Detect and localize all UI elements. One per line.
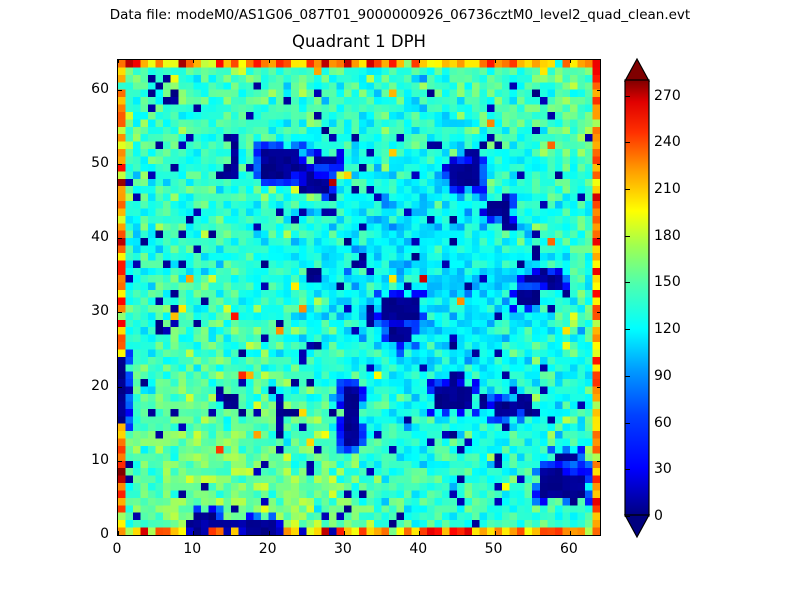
- colorbar-tick-mark: [625, 282, 630, 283]
- y-ticklabel: 30: [63, 303, 109, 319]
- colorbar-ticklabel: 30: [654, 461, 672, 477]
- y-tick-mark-right: [597, 238, 601, 239]
- x-tick-mark-top: [495, 59, 496, 63]
- y-tick-mark-right: [597, 90, 601, 91]
- colorbar-body: [625, 80, 649, 516]
- y-tick-mark: [117, 164, 122, 165]
- y-ticklabel: 60: [63, 81, 109, 97]
- colorbar-extend-top-arrow: [625, 59, 649, 81]
- colorbar-tick-mark: [625, 516, 630, 517]
- colorbar-ticklabel: 90: [654, 368, 672, 384]
- data-file-suptitle: Data file: modeM0/AS1G06_087T01_90000009…: [0, 6, 800, 24]
- colorbar-tick-mark: [625, 376, 630, 377]
- y-tick-mark-right: [597, 164, 601, 165]
- colorbar-tick-mark: [625, 329, 630, 330]
- x-ticklabel: 50: [469, 541, 519, 557]
- x-tick-mark-top: [118, 59, 119, 63]
- y-ticklabel: 20: [63, 378, 109, 394]
- x-tick-mark-top: [570, 59, 571, 63]
- x-ticklabel: 40: [393, 541, 443, 557]
- y-tick-mark: [117, 90, 122, 91]
- y-tick-mark-right: [597, 535, 601, 536]
- x-tick-mark: [419, 531, 420, 536]
- x-tick-mark-top: [419, 59, 420, 63]
- y-ticklabel: 50: [63, 155, 109, 171]
- colorbar-ticklabel: 240: [654, 134, 681, 150]
- y-tick-mark: [117, 535, 122, 536]
- x-ticklabel: 30: [318, 541, 368, 557]
- y-tick-mark: [117, 387, 122, 388]
- x-tick-mark-top: [193, 59, 194, 63]
- x-tick-mark-top: [344, 59, 345, 63]
- y-tick-mark-right: [597, 461, 601, 462]
- y-ticklabel: 0: [63, 526, 109, 542]
- colorbar-tick-mark: [625, 96, 630, 97]
- colorbar-ticklabel: 60: [654, 415, 672, 431]
- colorbar-gradient[interactable]: [624, 59, 650, 538]
- x-tick-mark: [495, 531, 496, 536]
- y-tick-mark: [117, 238, 122, 239]
- x-tick-mark: [570, 531, 571, 536]
- colorbar-ticklabel: 180: [654, 228, 681, 244]
- x-tick-mark-top: [269, 59, 270, 63]
- heatmap-image[interactable]: [118, 60, 600, 535]
- colorbar-extend-bottom-arrow: [625, 515, 649, 537]
- x-ticklabel: 0: [92, 541, 142, 557]
- colorbar-tick-mark: [625, 423, 630, 424]
- colorbar-ticklabel: 120: [654, 321, 681, 337]
- page-title: Quadrant 1 DPH: [117, 32, 601, 52]
- x-ticklabel: 20: [243, 541, 293, 557]
- y-tick-mark-right: [597, 387, 601, 388]
- y-tick-mark-right: [597, 312, 601, 313]
- heatmap-axes[interactable]: [117, 59, 601, 536]
- colorbar-tick-mark: [625, 469, 630, 470]
- y-ticklabel: 40: [63, 229, 109, 245]
- x-tick-mark: [344, 531, 345, 536]
- y-tick-mark: [117, 312, 122, 313]
- x-tick-mark: [193, 531, 194, 536]
- colorbar-ticklabel: 270: [654, 88, 681, 104]
- x-tick-mark: [269, 531, 270, 536]
- colorbar-ticklabel: 150: [654, 274, 681, 290]
- colorbar-tick-mark: [625, 142, 630, 143]
- colorbar-ticklabel: 210: [654, 181, 681, 197]
- colorbar-ticklabel: 0: [654, 508, 663, 524]
- colorbar-tick-mark: [625, 189, 630, 190]
- colorbar-tick-mark: [625, 236, 630, 237]
- y-ticklabel: 10: [63, 452, 109, 468]
- colorbar[interactable]: 0306090120150180210240270: [624, 59, 650, 538]
- x-ticklabel: 60: [544, 541, 594, 557]
- figure-canvas: Data file: modeM0/AS1G06_087T01_90000009…: [0, 0, 800, 600]
- y-tick-mark: [117, 461, 122, 462]
- x-ticklabel: 10: [167, 541, 217, 557]
